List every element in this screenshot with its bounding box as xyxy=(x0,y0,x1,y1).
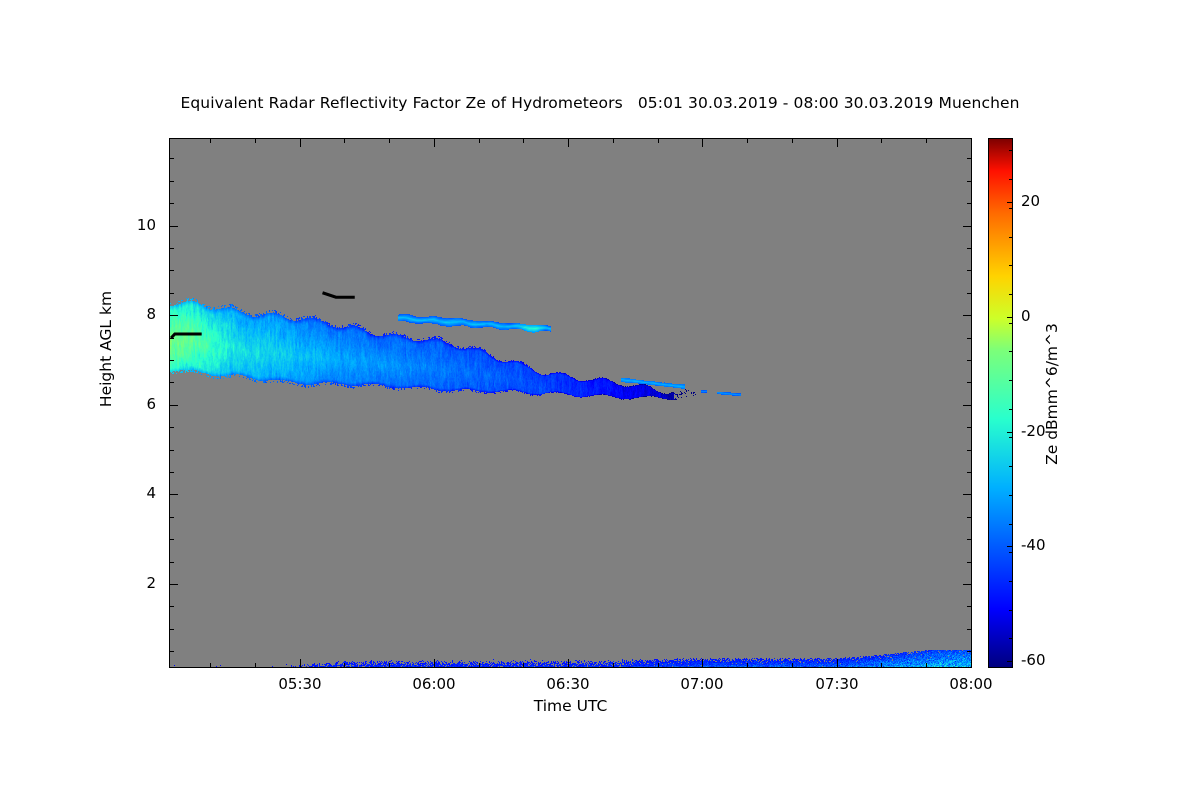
y-tick-major xyxy=(169,315,178,316)
y-tick-minor-right xyxy=(967,158,972,159)
colorbar-tick-minor xyxy=(1009,351,1013,352)
x-tick-minor-top xyxy=(658,138,659,143)
y-tick-minor xyxy=(169,629,174,630)
y-tick-major-right xyxy=(963,584,972,585)
x-tick-minor xyxy=(747,663,748,668)
radar-heatmap xyxy=(170,139,971,667)
x-tick-major-top xyxy=(837,138,838,147)
colorbar-tick-minor xyxy=(1009,265,1013,266)
y-tick-label: 6 xyxy=(146,395,156,413)
x-tick-major xyxy=(971,659,972,668)
colorbar-tick-minor xyxy=(1009,323,1013,324)
y-tick-major xyxy=(169,405,178,406)
x-tick-major xyxy=(702,659,703,668)
colorbar-gradient xyxy=(989,139,1012,667)
x-tick-major-top xyxy=(300,138,301,147)
x-tick-minor xyxy=(523,663,524,668)
colorbar-tick-minor xyxy=(1009,437,1013,438)
y-tick-major-right xyxy=(963,494,972,495)
x-tick-minor xyxy=(613,663,614,668)
y-tick-minor xyxy=(169,450,174,451)
y-tick-minor-right xyxy=(967,293,972,294)
y-tick-minor xyxy=(169,427,174,428)
colorbar-tick xyxy=(1007,661,1013,662)
y-tick-major xyxy=(169,584,178,585)
colorbar-tick-minor xyxy=(1009,581,1013,582)
colorbar-tick xyxy=(1007,202,1013,203)
y-tick-major-right xyxy=(963,405,972,406)
x-tick-major-top xyxy=(702,138,703,147)
chart-title: Equivalent Radar Reflectivity Factor Ze … xyxy=(0,94,1200,112)
x-tick-label: 06:30 xyxy=(528,675,608,693)
y-tick-major xyxy=(169,494,178,495)
x-tick-minor xyxy=(881,663,882,668)
y-tick-major-right xyxy=(963,315,972,316)
colorbar-tick xyxy=(1007,432,1013,433)
y-tick-minor xyxy=(169,293,174,294)
y-tick-label: 4 xyxy=(146,484,156,502)
x-tick-major xyxy=(300,659,301,668)
colorbar-tick xyxy=(1007,546,1013,547)
colorbar-tick-label: -20 xyxy=(1021,422,1046,440)
y-tick-minor-right xyxy=(967,562,972,563)
colorbar-tick-label: -60 xyxy=(1021,651,1046,669)
colorbar-tick-minor xyxy=(1009,552,1013,553)
x-tick-minor-top xyxy=(210,138,211,143)
x-tick-label: 07:00 xyxy=(662,675,742,693)
x-tick-minor xyxy=(479,663,480,668)
y-tick-minor xyxy=(169,158,174,159)
y-tick-minor xyxy=(169,270,174,271)
colorbar-tick-minor xyxy=(1009,179,1013,180)
y-tick-minor-right xyxy=(967,517,972,518)
colorbar-tick-minor xyxy=(1009,495,1013,496)
x-tick-minor xyxy=(344,663,345,668)
x-tick-minor-top xyxy=(479,138,480,143)
colorbar-tick-minor xyxy=(1009,237,1013,238)
y-tick-minor xyxy=(169,517,174,518)
y-tick-minor-right xyxy=(967,270,972,271)
x-tick-minor-top xyxy=(881,138,882,143)
colorbar-tick-label: 20 xyxy=(1021,192,1040,210)
y-tick-minor-right xyxy=(967,472,972,473)
y-tick-major-right xyxy=(963,226,972,227)
x-tick-minor-top xyxy=(613,138,614,143)
y-tick-minor xyxy=(169,382,174,383)
x-tick-major xyxy=(434,659,435,668)
colorbar-title: Ze dBmm^6/m^3 xyxy=(1043,264,1061,524)
colorbar-tick-minor xyxy=(1009,524,1013,525)
x-tick-minor xyxy=(210,663,211,668)
y-tick-minor-right xyxy=(967,360,972,361)
colorbar-tick-minor xyxy=(1009,667,1013,668)
y-tick-minor xyxy=(169,203,174,204)
colorbar-tick-minor xyxy=(1009,466,1013,467)
x-tick-minor-top xyxy=(255,138,256,143)
x-tick-label: 07:30 xyxy=(797,675,877,693)
colorbar-tick-minor xyxy=(1009,638,1013,639)
y-tick-minor xyxy=(169,360,174,361)
y-tick-minor-right xyxy=(967,629,972,630)
x-tick-label: 05:30 xyxy=(260,675,340,693)
x-tick-minor-top xyxy=(523,138,524,143)
x-tick-minor-top xyxy=(926,138,927,143)
y-tick-minor-right xyxy=(967,248,972,249)
colorbar-tick-minor xyxy=(1009,208,1013,209)
y-tick-minor xyxy=(169,338,174,339)
y-tick-minor-right xyxy=(967,181,972,182)
x-tick-major xyxy=(837,659,838,668)
colorbar-tick-minor xyxy=(1009,294,1013,295)
y-tick-minor-right xyxy=(967,539,972,540)
y-tick-label: 2 xyxy=(146,574,156,592)
x-axis-title: Time UTC xyxy=(169,697,972,715)
y-axis-title: Height AGL km xyxy=(97,219,115,479)
colorbar-tick xyxy=(1007,317,1013,318)
y-tick-minor-right xyxy=(967,427,972,428)
y-tick-minor xyxy=(169,606,174,607)
radar-plot-area xyxy=(169,138,972,668)
x-tick-minor-top xyxy=(344,138,345,143)
colorbar-tick-minor xyxy=(1009,150,1013,151)
y-tick-minor-right xyxy=(967,450,972,451)
x-tick-minor xyxy=(792,663,793,668)
x-tick-minor xyxy=(658,663,659,668)
y-tick-minor xyxy=(169,539,174,540)
y-tick-minor-right xyxy=(967,338,972,339)
y-tick-minor xyxy=(169,651,174,652)
y-tick-minor xyxy=(169,472,174,473)
x-tick-minor xyxy=(926,663,927,668)
y-tick-minor-right xyxy=(967,382,972,383)
colorbar-tick-label: -40 xyxy=(1021,536,1046,554)
x-tick-minor-top xyxy=(792,138,793,143)
colorbar-tick-label: 0 xyxy=(1021,307,1031,325)
radar-heatmap-canvas xyxy=(170,139,971,667)
y-tick-minor xyxy=(169,181,174,182)
y-tick-minor-right xyxy=(967,203,972,204)
colorbar xyxy=(988,138,1013,668)
y-tick-label: 8 xyxy=(146,305,156,323)
x-tick-minor xyxy=(389,663,390,668)
x-tick-minor-top xyxy=(747,138,748,143)
x-tick-major-top xyxy=(568,138,569,147)
colorbar-tick-minor xyxy=(1009,380,1013,381)
x-tick-label: 08:00 xyxy=(931,675,1011,693)
colorbar-tick-minor xyxy=(1009,409,1013,410)
x-tick-major xyxy=(568,659,569,668)
colorbar-tick-minor xyxy=(1009,610,1013,611)
y-tick-minor xyxy=(169,248,174,249)
x-tick-major-top xyxy=(971,138,972,147)
x-tick-label: 06:00 xyxy=(394,675,474,693)
y-tick-label: 10 xyxy=(137,216,156,234)
x-tick-major-top xyxy=(434,138,435,147)
x-tick-minor xyxy=(255,663,256,668)
x-tick-minor-top xyxy=(389,138,390,143)
y-tick-minor-right xyxy=(967,606,972,607)
y-tick-minor xyxy=(169,562,174,563)
y-tick-major xyxy=(169,226,178,227)
y-tick-minor-right xyxy=(967,651,972,652)
